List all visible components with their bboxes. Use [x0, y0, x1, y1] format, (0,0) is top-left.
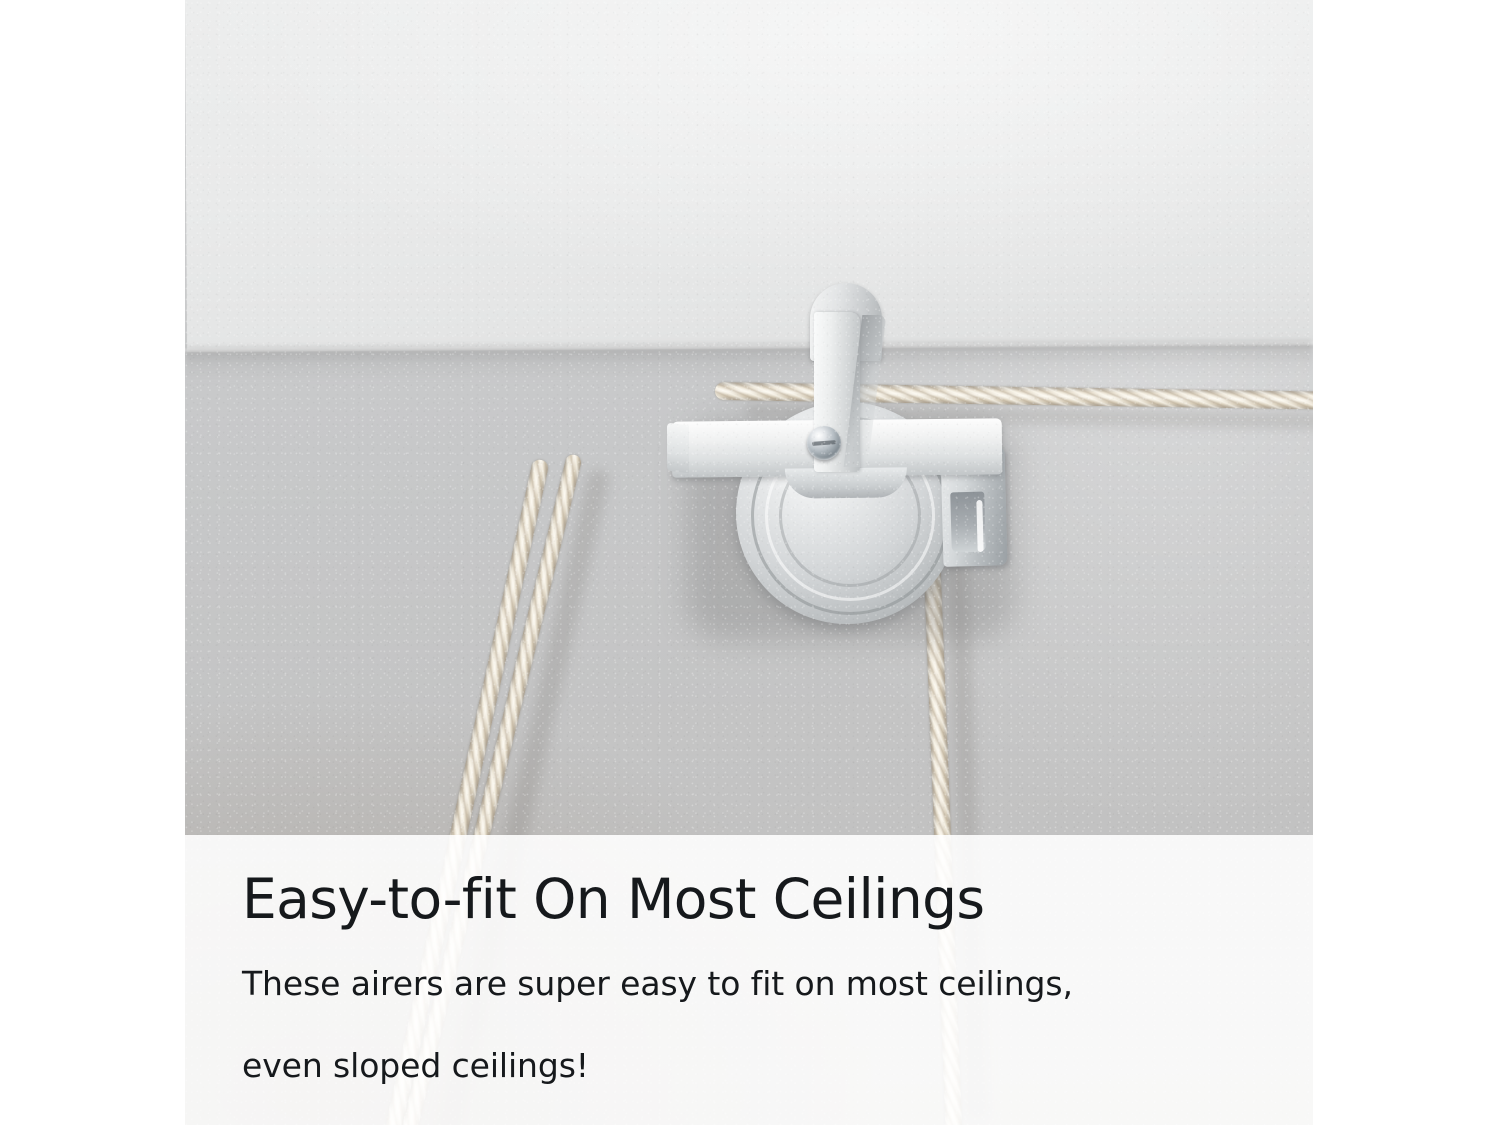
caption-body-line-2: even sloped ceilings!	[242, 1036, 1282, 1096]
caption-headline: Easy-to-fit On Most Ceilings	[242, 868, 1282, 932]
caption-text-block: Easy-to-fit On Most Ceilings These airer…	[242, 868, 1282, 1096]
right-margin	[1313, 0, 1500, 1125]
left-margin	[0, 0, 185, 1125]
pulley-cross-plate-notch	[785, 467, 907, 498]
ceiling-edge-shadow	[185, 341, 1313, 382]
caption-body-line-1: These airers are super easy to fit on mo…	[242, 954, 1282, 1014]
product-feature-card: Easy-to-fit On Most Ceilings These airer…	[0, 0, 1500, 1125]
ceiling-surface	[185, 0, 1313, 352]
pulley-cross-plate-left-tip	[667, 423, 689, 474]
